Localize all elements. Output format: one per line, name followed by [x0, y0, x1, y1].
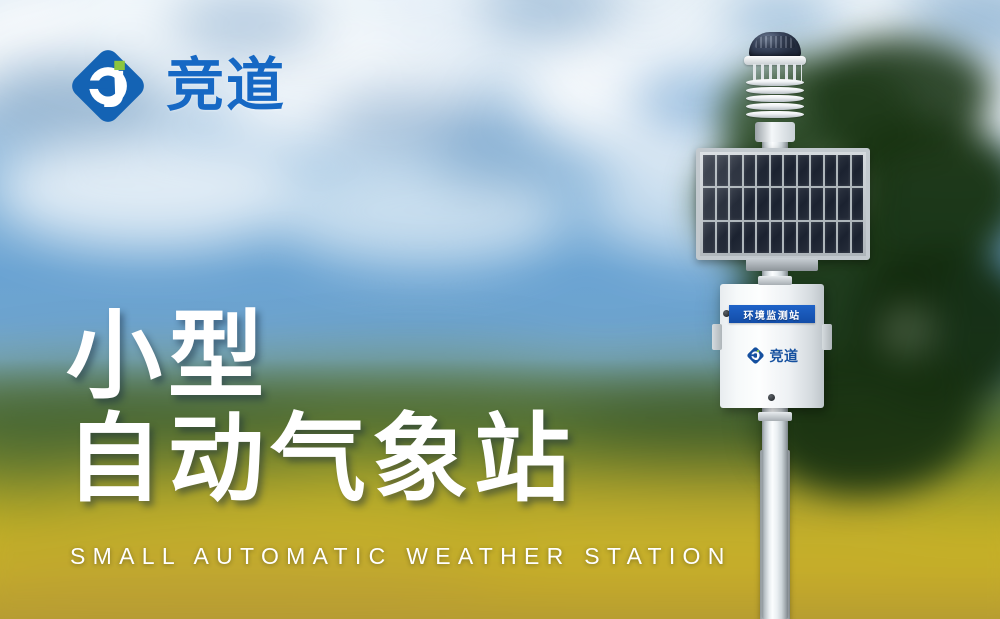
brand-name: 竞道 [166, 57, 286, 115]
jingdao-diamond-logo-icon [66, 44, 150, 128]
enclosure-label-text: 环境监测站 [744, 307, 801, 322]
product-banner: 环境监测站 竞道 竞道 [0, 0, 1000, 619]
enclosure-brand-text: 竞道 [770, 349, 799, 363]
sensor-base [755, 122, 795, 142]
ultrasonic-weather-sensor-icon [738, 30, 812, 140]
solar-cell-grid [703, 155, 863, 253]
radiation-shield-plate [746, 103, 804, 110]
enclosure-screw [768, 394, 775, 401]
enclosure-label-badge: 环境监测站 [729, 305, 815, 323]
radiation-shield-plate [746, 79, 804, 86]
controller-enclosure: 环境监测站 竞道 [720, 284, 824, 408]
brand-lockup: 竞道 [66, 44, 286, 128]
panel-mount-bracket [746, 258, 818, 271]
enclosure-brand-lockup: 竞道 [720, 346, 824, 365]
headline-line-2: 自动气象站 [66, 409, 576, 512]
mast-clamp [758, 276, 792, 285]
radiation-shield-plate [746, 95, 804, 102]
jingdao-diamond-logo-icon [746, 346, 765, 365]
radiation-shield-plate [746, 87, 804, 94]
headline-line-1: 小型 [66, 306, 576, 409]
headline-block: 小型 自动气象站 [66, 306, 576, 511]
radiation-shield-plate [746, 111, 804, 118]
solar-panel [696, 148, 870, 260]
sensor-dome-icon [749, 32, 801, 58]
headline-subtitle: SMALL AUTOMATIC WEATHER STATION [70, 543, 732, 570]
mast-clamp [758, 412, 792, 421]
weather-station-device: 环境监测站 竞道 [688, 30, 878, 619]
